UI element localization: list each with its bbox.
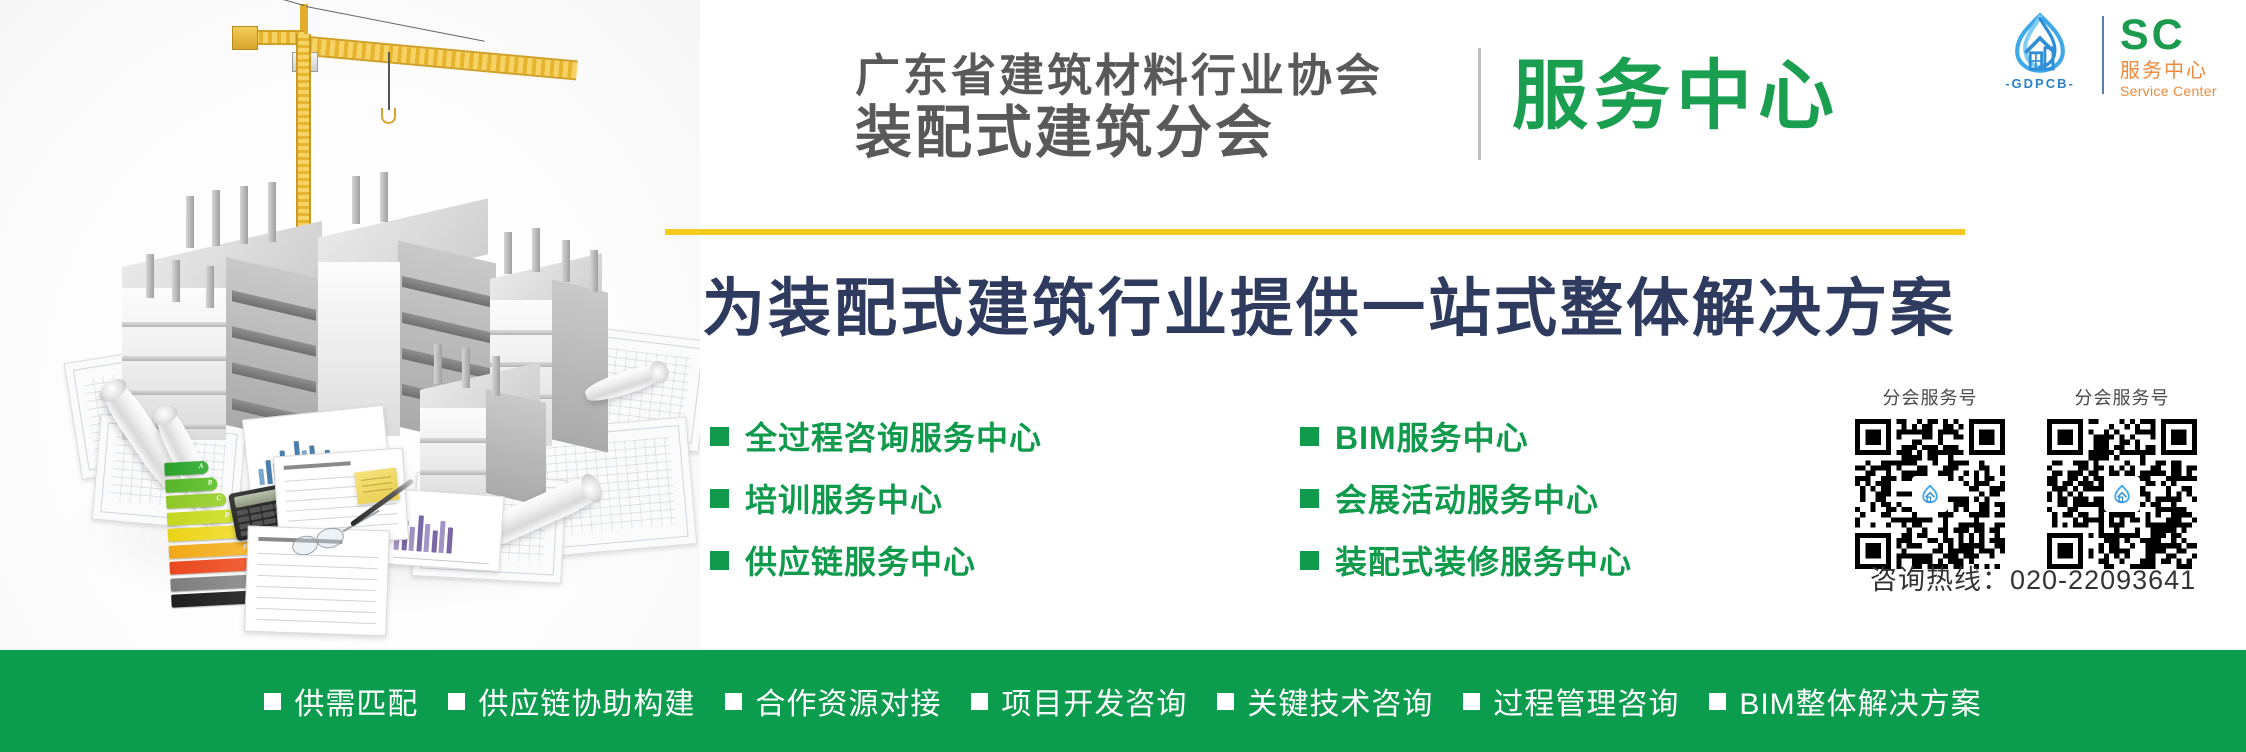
bullet-square-icon [710, 551, 729, 570]
association-name-line1: 广东省建筑材料行业协会 [855, 50, 1455, 102]
association-name-line2: 装配式建筑分会 [855, 102, 1455, 164]
bullet-square-icon [1300, 427, 1319, 446]
qr-caption: 分会服务号 [2047, 384, 2197, 410]
qr-code-unit: 分会服务号 [1855, 384, 2005, 569]
service-item-label: 供应链服务中心 [745, 537, 976, 583]
qr-caption: 分会服务号 [1855, 384, 2005, 410]
service-item[interactable]: 供应链服务中心 [710, 529, 1042, 591]
gdpcb-logo-mark: -GDPCB- [1988, 12, 2092, 91]
flame-house-icon [2109, 481, 2135, 507]
bullet-square-icon [710, 427, 729, 446]
footer-item[interactable]: 供需匹配 [264, 679, 418, 723]
brand-sc-text: SC [2120, 14, 2217, 56]
service-item-label: 装配式装修服务中心 [1335, 537, 1632, 583]
qr-code-image[interactable] [1855, 419, 2005, 569]
qr-code-group: 分会服务号 分会服务号 [1855, 384, 2197, 569]
footer-item[interactable]: 过程管理咨询 [1463, 679, 1679, 723]
brand-english-text: Service Center [2120, 83, 2217, 99]
service-item-label: 全过程咨询服务中心 [745, 413, 1042, 459]
service-item[interactable]: 培训服务中心 [710, 467, 1042, 529]
service-item[interactable]: 装配式装修服务中心 [1300, 529, 1632, 591]
footer-item[interactable]: 关键技术咨询 [1217, 679, 1433, 723]
bullet-square-icon [448, 693, 465, 710]
footer-item-label: 供需匹配 [294, 679, 418, 723]
qr-code-image[interactable] [2047, 419, 2197, 569]
footer-item-label: 关键技术咨询 [1247, 679, 1433, 723]
bullet-square-icon [710, 489, 729, 508]
crane-cable [306, 6, 485, 42]
hotline-text: 咨询热线：020-22093641 [1870, 558, 2196, 597]
brand-divider [2102, 16, 2104, 94]
service-item[interactable]: 全过程咨询服务中心 [710, 405, 1042, 467]
footer-item[interactable]: 项目开发咨询 [971, 679, 1187, 723]
title-divider [1478, 48, 1481, 160]
service-item-label: BIM服务中心 [1335, 413, 1529, 459]
brand-wordmark: SC 服务中心 Service Center [2120, 12, 2217, 99]
qr-center-logo [2104, 476, 2140, 512]
sc-service-center-logo: -GDPCB- SC 服务中心 Service Center [1988, 12, 2217, 99]
service-center-heading: 服务中心 [1512, 42, 1840, 152]
footer-item-label: 过程管理咨询 [1493, 679, 1679, 723]
bullet-square-icon [1709, 693, 1726, 710]
bullet-square-icon [971, 693, 988, 710]
service-item[interactable]: 会展活动服务中心 [1300, 467, 1632, 529]
crane-jib [307, 36, 578, 80]
association-title: 广东省建筑材料行业协会 装配式建筑分会 [855, 50, 1455, 164]
slogan-text: 为装配式建筑行业提供一站式整体解决方案 [702, 258, 1956, 349]
bullet-square-icon [264, 693, 281, 710]
crane-hoist-line [388, 52, 390, 110]
crane-cable [231, 0, 304, 6]
service-list-left: 全过程咨询服务中心 培训服务中心 供应链服务中心 [710, 405, 1042, 591]
bullet-square-icon [725, 693, 742, 710]
footer-item-label: BIM整体解决方案 [1739, 679, 1981, 723]
qr-code-unit: 分会服务号 [2047, 384, 2197, 569]
crane-hook [381, 108, 396, 124]
bullet-square-icon [1463, 693, 1480, 710]
service-list-right: BIM服务中心 会展活动服务中心 装配式装修服务中心 [1300, 405, 1632, 591]
footer-item-label: 合作资源对接 [755, 679, 941, 723]
promotional-banner: A B C D E F G H I [0, 0, 2246, 752]
footer-item[interactable]: 合作资源对接 [725, 679, 941, 723]
bullet-square-icon [1300, 489, 1319, 508]
bullet-square-icon [1300, 551, 1319, 570]
service-item-label: 会展活动服务中心 [1335, 475, 1599, 521]
crane-mast [296, 34, 311, 230]
flame-house-icon [1917, 481, 1943, 507]
bullet-square-icon [1217, 693, 1234, 710]
qr-center-logo [1912, 476, 1948, 512]
brand-chinese-text: 服务中心 [2120, 59, 2217, 83]
service-item-label: 培训服务中心 [745, 475, 943, 521]
gold-divider-rule [665, 229, 1965, 235]
construction-hero-illustration: A B C D E F G H I [0, 0, 700, 650]
brand-code-text: -GDPCB- [1988, 76, 2092, 91]
footer-item[interactable]: BIM整体解决方案 [1709, 679, 1981, 723]
service-item[interactable]: BIM服务中心 [1300, 405, 1632, 467]
footer-item[interactable]: 供应链协助构建 [448, 679, 695, 723]
sticky-note [354, 468, 400, 505]
footer-item-label: 供应链协助构建 [478, 679, 695, 723]
footer-item-label: 项目开发咨询 [1001, 679, 1187, 723]
crane-counterweight [232, 26, 258, 50]
flame-house-icon [1999, 12, 2081, 74]
footer-service-bar: 供需匹配 供应链协助构建 合作资源对接 项目开发咨询 关键技术咨询 过程管理咨询… [0, 650, 2246, 752]
